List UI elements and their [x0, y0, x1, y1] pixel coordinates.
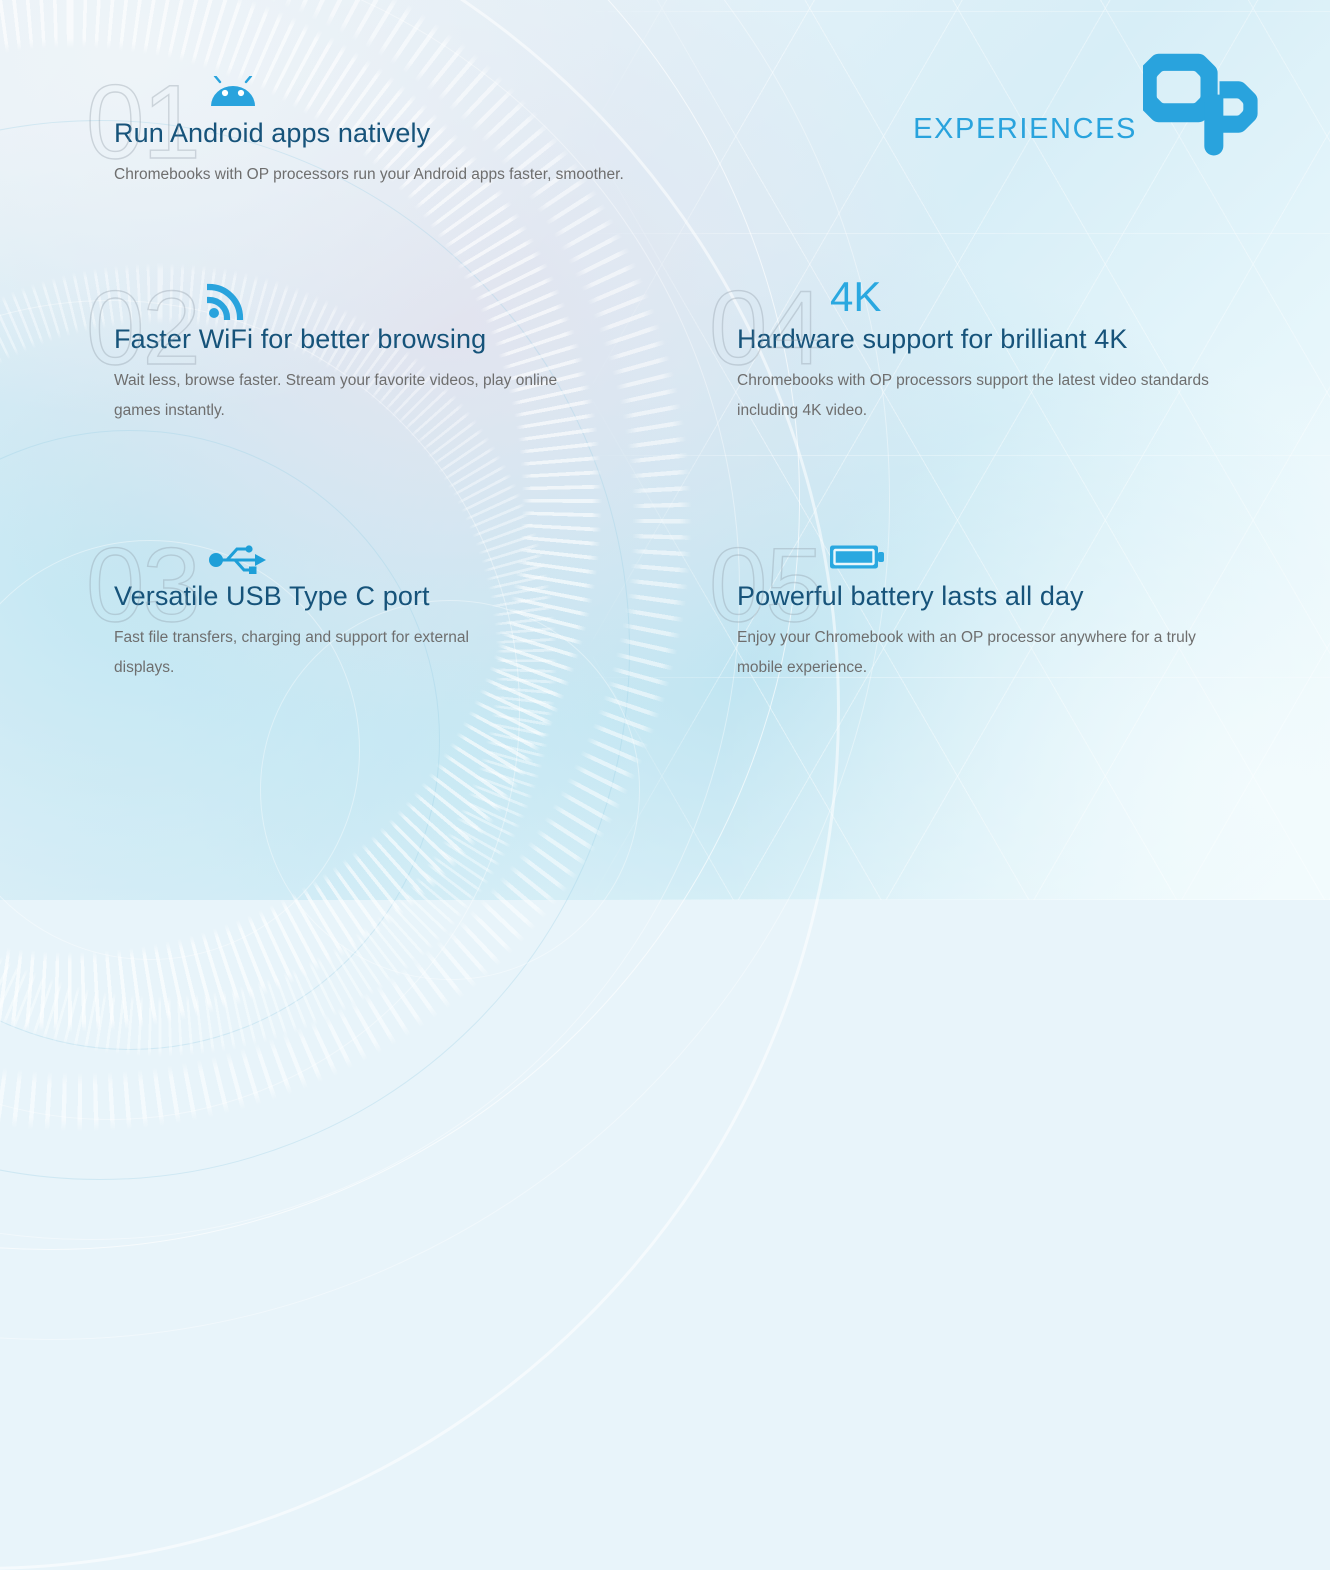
4k-icon: 4K [830, 276, 881, 318]
watermark-number-03: 03 [86, 533, 199, 638]
watermark-number-05: 05 [709, 533, 822, 638]
battery-icon [830, 543, 886, 583]
usb-icon [207, 541, 269, 581]
feature-card-05: 05 Powerful battery lasts all day Enjoy … [737, 581, 1227, 683]
feature-card-01: 01 Run Android apps natively Chromebooks… [114, 118, 624, 190]
watermark-number-02: 02 [86, 276, 199, 381]
feature-card-02: 02 Faster WiFi for better browsing Wait … [114, 324, 594, 426]
feature-grid: 01 Run Android apps natively Chromebooks… [0, 0, 1330, 900]
watermark-number-04: 04 [709, 276, 822, 381]
android-icon [207, 76, 259, 116]
feature-card-03: 03 Versatile USB Type C port Fast file t… [114, 581, 514, 683]
wifi-icon [207, 280, 247, 320]
watermark-number-01: 01 [86, 70, 199, 175]
feature-card-04: 04 4K Hardware support for brilliant 4K … [737, 324, 1237, 426]
